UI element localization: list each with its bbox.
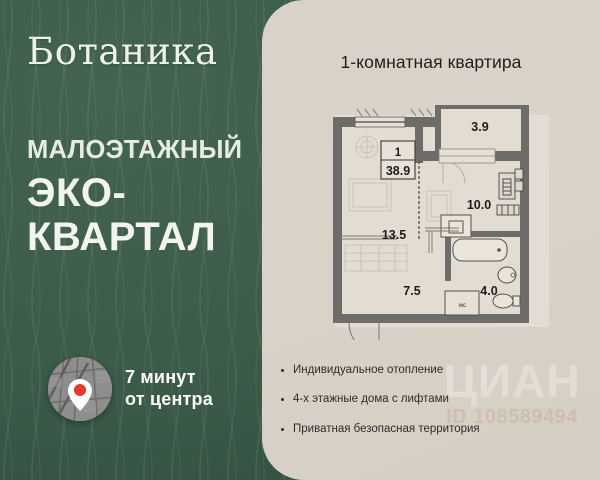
feature-label: 4-х этажные дома с лифтами	[293, 392, 449, 407]
headline-line-1: МАЛОЭТАЖНЫЙ	[27, 137, 262, 165]
room-area-hallway: 7.5	[403, 284, 420, 298]
apartment-number: 1	[395, 147, 402, 159]
list-item: 4-х этажные дома с лифтами	[278, 392, 588, 407]
list-item: Приватная безопасная территория	[278, 422, 588, 437]
list-item: Индивидуальное отопление	[278, 363, 588, 378]
headline-line-3: КВАРТАЛ	[27, 215, 262, 260]
distance-minutes: 7 минут	[125, 367, 213, 389]
room-area-balcony: 3.9	[471, 120, 488, 134]
feature-label: Индивидуальное отопление	[293, 363, 443, 378]
floorplan-drawing: .wall{fill:#6e6c68;} .room{fill:#e2dcd2;…	[327, 95, 557, 340]
listing-card-image: Ботаника МАЛОЭТАЖНЫЙ ЭКО- КВАРТАЛ	[0, 0, 600, 480]
headline-line-2: ЭКО-	[27, 171, 262, 216]
bullet-icon	[281, 428, 284, 431]
page-title: 1-комнатная квартира	[262, 52, 600, 73]
map-pin-circle-icon	[48, 357, 112, 421]
closet-label: мс	[459, 303, 466, 309]
distance-badge-text: 7 минут от центра	[125, 367, 213, 411]
feature-list: Индивидуальное отопление 4-х этажные дом…	[278, 363, 588, 451]
distance-badge: 7 минут от центра	[48, 357, 213, 421]
brand-logo: Ботаника	[27, 33, 218, 70]
floorplan-card: 1-комнатная квартира ЦИАН ID 108589494 .…	[262, 0, 600, 480]
room-area-living: 13.5	[382, 228, 406, 242]
distance-from-center: от центра	[125, 389, 213, 411]
brand-headline: МАЛОЭТАЖНЫЙ ЭКО- КВАРТАЛ	[27, 137, 262, 260]
room-area-kitchen: 10.0	[467, 198, 491, 212]
bullet-icon	[281, 369, 284, 372]
room-area-bathroom: 4.0	[480, 284, 497, 298]
total-area: 38.9	[386, 164, 410, 178]
feature-label: Приватная безопасная территория	[293, 422, 480, 437]
bullet-icon	[281, 398, 284, 401]
